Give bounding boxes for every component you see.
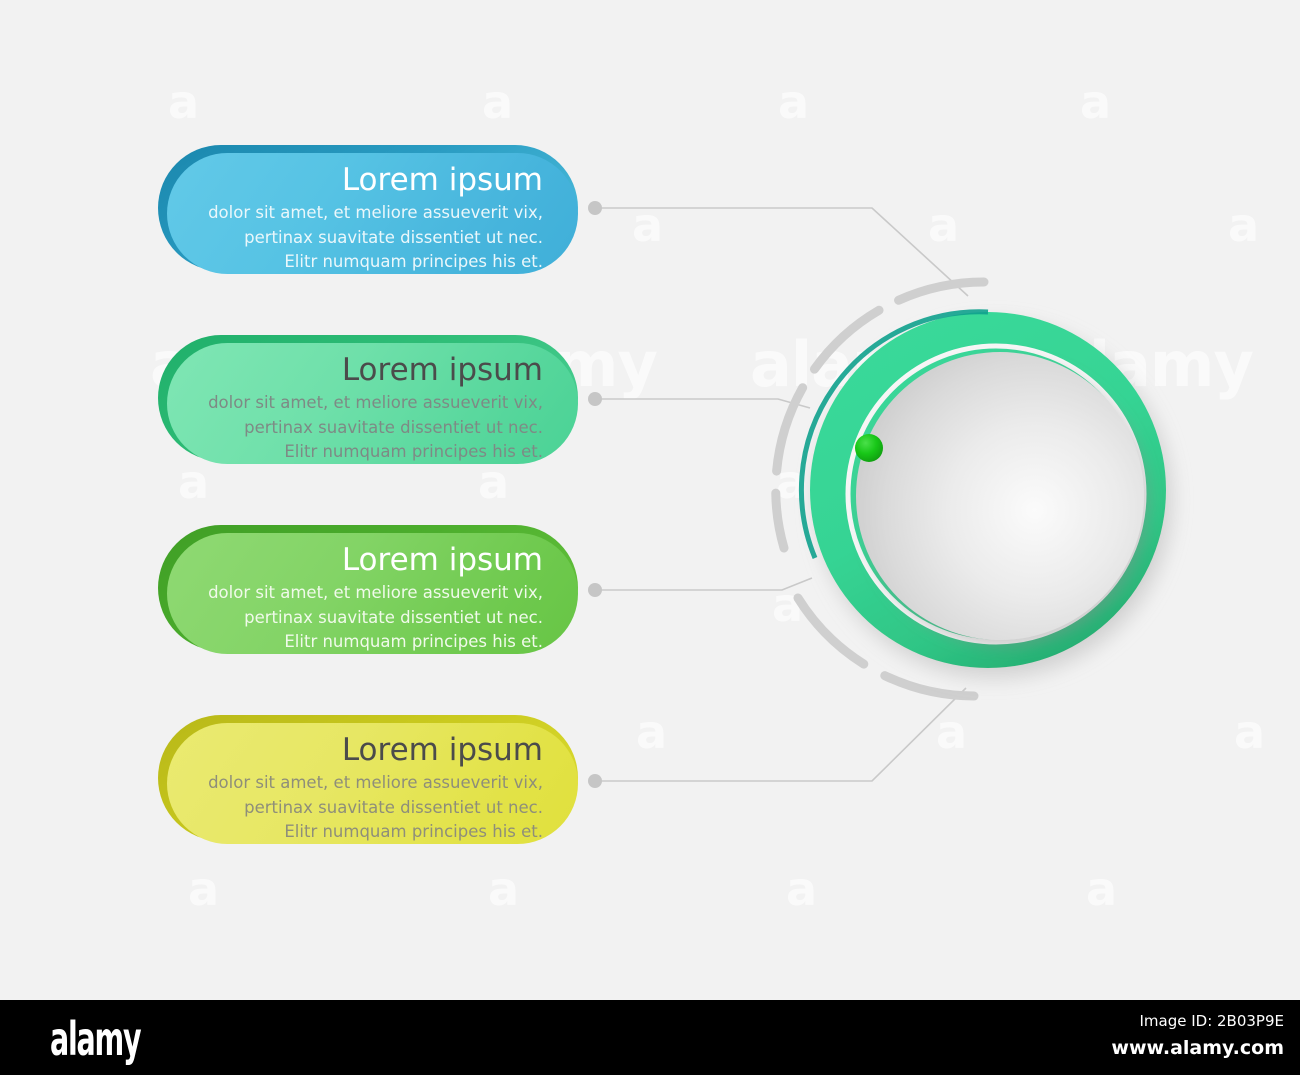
card-body: dolor sit amet, et meliore assueverit vi… [197,771,543,845]
connector-dot-4 [588,774,602,788]
card-title: Lorem ipsum [197,730,543,770]
card-face: Lorem ipsum dolor sit amet, et meliore a… [167,533,578,654]
card-body-line: pertinax suavitate dissentiet ut nec. [197,226,543,251]
card-body: dolor sit amet, et meliore assueverit vi… [197,391,543,465]
card-body: dolor sit amet, et meliore assueverit vi… [197,581,543,655]
card-face: Lorem ipsum dolor sit amet, et meliore a… [167,343,578,464]
info-card-yellow[interactable]: Lorem ipsum dolor sit amet, et meliore a… [158,715,578,841]
card-body-line: pertinax suavitate dissentiet ut nec. [197,796,543,821]
card-title: Lorem ipsum [197,540,543,580]
card-body: dolor sit amet, et meliore assueverit vi… [197,201,543,275]
alamy-logo: alamy [50,1012,140,1066]
card-text-block: Lorem ipsum dolor sit amet, et meliore a… [167,723,578,844]
central-hub[interactable] [760,268,1200,708]
card-body-line: pertinax suavitate dissentiet ut nec. [197,416,543,441]
card-text-block: Lorem ipsum dolor sit amet, et meliore a… [167,153,578,274]
image-id-text: Image ID: 2B03P9E [1024,1012,1284,1030]
hub-marker-dot [855,434,883,462]
connector-dot-3 [588,583,602,597]
connector-dot-1 [588,201,602,215]
info-card-blue[interactable]: Lorem ipsum dolor sit amet, et meliore a… [158,145,578,271]
card-text-block: Lorem ipsum dolor sit amet, et meliore a… [167,343,578,464]
card-title: Lorem ipsum [197,350,543,390]
card-body-line: dolor sit amet, et meliore assueverit vi… [197,201,543,226]
card-body-line: dolor sit amet, et meliore assueverit vi… [197,391,543,416]
info-card-mint[interactable]: Lorem ipsum dolor sit amet, et meliore a… [158,335,578,461]
card-body-line: pertinax suavitate dissentiet ut nec. [197,606,543,631]
card-face: Lorem ipsum dolor sit amet, et meliore a… [167,153,578,274]
hub-sphere [856,352,1144,640]
card-face: Lorem ipsum dolor sit amet, et meliore a… [167,723,578,844]
info-card-green[interactable]: Lorem ipsum dolor sit amet, et meliore a… [158,525,578,651]
card-body-line: dolor sit amet, et meliore assueverit vi… [197,771,543,796]
card-body-line: Elitr numquam principes his et. [197,820,543,845]
card-title: Lorem ipsum [197,160,543,200]
connector-dot-2 [588,392,602,406]
alamy-url-text: www.alamy.com [1024,1037,1284,1059]
card-body-line: Elitr numquam principes his et. [197,250,543,275]
card-body-line: Elitr numquam principes his et. [197,630,543,655]
alamy-footer-bar: alamy Image ID: 2B03P9E www.alamy.com [0,1000,1300,1075]
card-text-block: Lorem ipsum dolor sit amet, et meliore a… [167,533,578,654]
card-body-line: dolor sit amet, et meliore assueverit vi… [197,581,543,606]
infographic-canvas: a a a a a a a a alamy alamy alamy alamy … [0,0,1300,1075]
card-body-line: Elitr numquam principes his et. [197,440,543,465]
